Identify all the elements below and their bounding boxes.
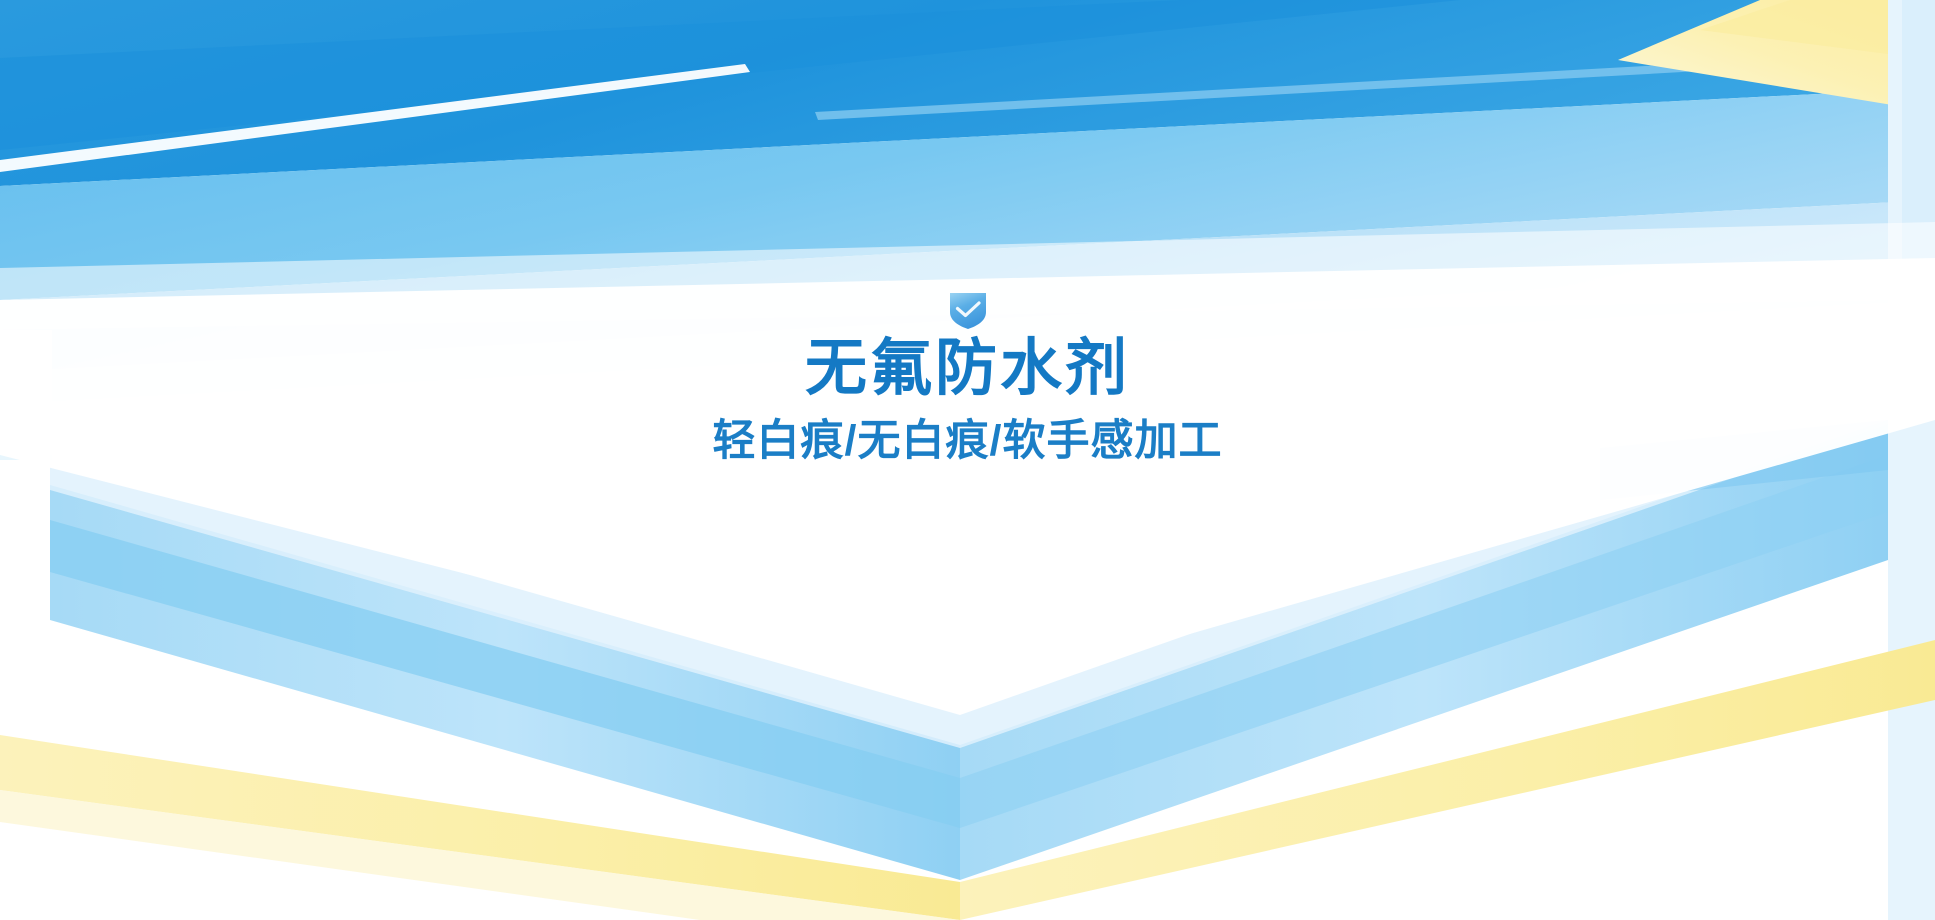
banner-background-graphic <box>0 0 1935 920</box>
product-hero-banner: 无氟防水剂 轻白痕/无白痕/软手感加工 <box>0 0 1935 920</box>
